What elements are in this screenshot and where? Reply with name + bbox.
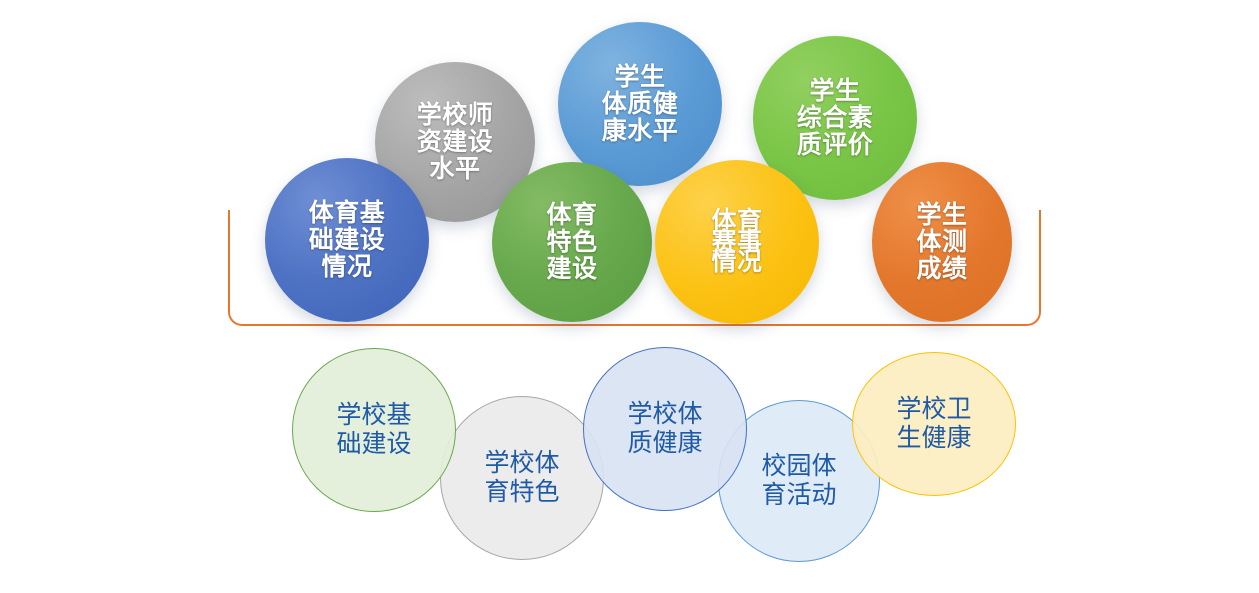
- bubble-line: 综合素: [797, 105, 874, 132]
- bubble-sports-feature-development[interactable]: 体育 特色 建设: [492, 162, 652, 322]
- bubble-school-physical-health[interactable]: 学校体 质健康: [583, 347, 747, 511]
- bubble-student-physical-health-level[interactable]: 学生 体质健 康水平: [558, 22, 722, 186]
- bubble-sports-infrastructure[interactable]: 体育基 础建设 情况: [265, 158, 429, 322]
- bubble-line: 成绩: [916, 256, 967, 283]
- bubble-line: 础建设: [309, 227, 386, 254]
- bubble-line: 校园体: [761, 452, 836, 482]
- bubble-line: 质评价: [797, 132, 874, 159]
- diagram-canvas: 体育基 础建设 情况 学校师 资建设 水平 学生 体质健 康水平 体育 特色 建…: [0, 0, 1259, 593]
- bubble-line: 情况: [309, 254, 386, 281]
- bubble-line: 建设: [546, 256, 597, 283]
- bubble-student-fitness-test-score[interactable]: 学生 体测 成绩: [872, 162, 1012, 322]
- bubble-line: 育特色: [484, 478, 559, 508]
- bubble-line: 情况: [711, 252, 762, 273]
- bubble-line: 础建设: [336, 430, 411, 460]
- bubble-line: 特色: [546, 229, 597, 256]
- bubble-line: 学校体: [627, 400, 702, 430]
- bubble-line: 学校基: [336, 401, 411, 431]
- bubble-line: 学校体: [484, 449, 559, 479]
- bubble-sports-events[interactable]: 体育 赛事 情况: [655, 160, 819, 324]
- bubble-line: 学校卫: [896, 395, 971, 425]
- bubble-line: 体测: [916, 229, 967, 256]
- bubble-line: 学生: [602, 64, 679, 91]
- bubble-line: 学生: [797, 78, 874, 105]
- bubble-line: 体质健: [602, 91, 679, 118]
- bubble-line: 资建设: [417, 129, 494, 156]
- bubble-line: 生健康: [896, 424, 971, 454]
- bubble-line: 学生: [916, 202, 967, 229]
- bubble-school-infrastructure[interactable]: 学校基 础建设: [292, 348, 456, 512]
- bubble-line: 体育: [546, 202, 597, 229]
- bubble-line: 康水平: [602, 118, 679, 145]
- bubble-line: 体育基: [309, 200, 386, 227]
- bubble-line: 学校师: [417, 102, 494, 129]
- bubble-line: 育活动: [761, 481, 836, 511]
- bubble-school-hygiene-health[interactable]: 学校卫 生健康: [852, 352, 1016, 496]
- bubble-school-sports-feature[interactable]: 学校体 育特色: [440, 396, 604, 560]
- bubble-line: 水平: [417, 156, 494, 183]
- bubble-line: 质健康: [627, 429, 702, 459]
